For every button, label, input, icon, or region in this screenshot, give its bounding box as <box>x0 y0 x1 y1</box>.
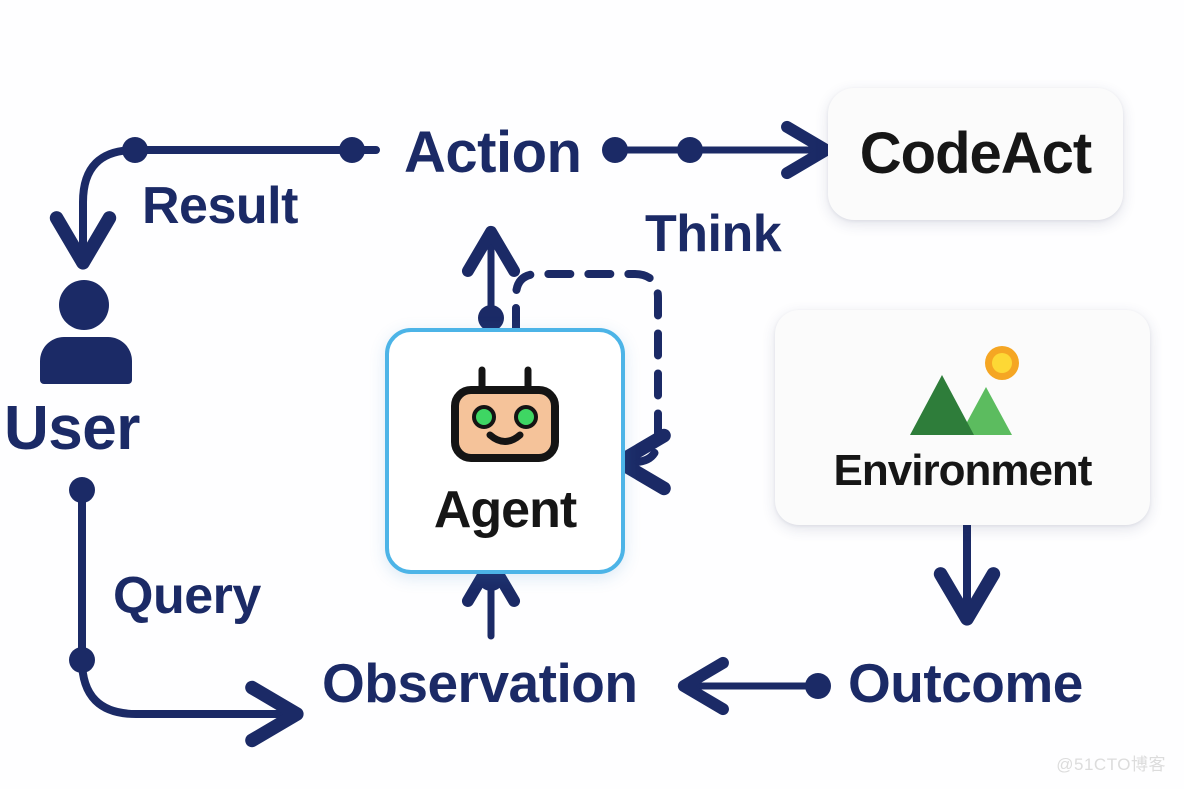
user-icon <box>40 280 132 384</box>
watermark: @51CTO博客 <box>1056 750 1166 775</box>
node-environment[interactable]: Environment <box>775 310 1150 525</box>
node-codeact-label: CodeAct <box>860 125 1091 183</box>
node-environment-label: Environment <box>834 449 1092 493</box>
edge-label-query: Query <box>113 570 261 622</box>
user-icon-body <box>40 337 132 384</box>
edge-label-think: Think <box>645 208 781 260</box>
edge-outcome <box>688 673 831 699</box>
robot-icon <box>446 366 564 470</box>
node-agent-label: Agent <box>434 484 576 536</box>
edge-agent-up <box>478 236 504 331</box>
edge-label-action: Action <box>404 124 581 182</box>
node-agent[interactable]: Agent <box>385 328 625 574</box>
diagram-canvas: Action Result Think User Query Observati… <box>0 0 1184 789</box>
edge-label-observation: Observation <box>322 656 637 711</box>
edge-observation-up <box>478 565 504 636</box>
edge-action <box>602 137 822 163</box>
user-icon-head <box>59 280 109 330</box>
node-codeact[interactable]: CodeAct <box>828 88 1123 220</box>
node-label-user: User <box>4 398 140 460</box>
mountain-sun-icon <box>898 343 1028 435</box>
edge-label-outcome: Outcome <box>848 656 1083 711</box>
edge-label-result: Result <box>142 180 298 232</box>
